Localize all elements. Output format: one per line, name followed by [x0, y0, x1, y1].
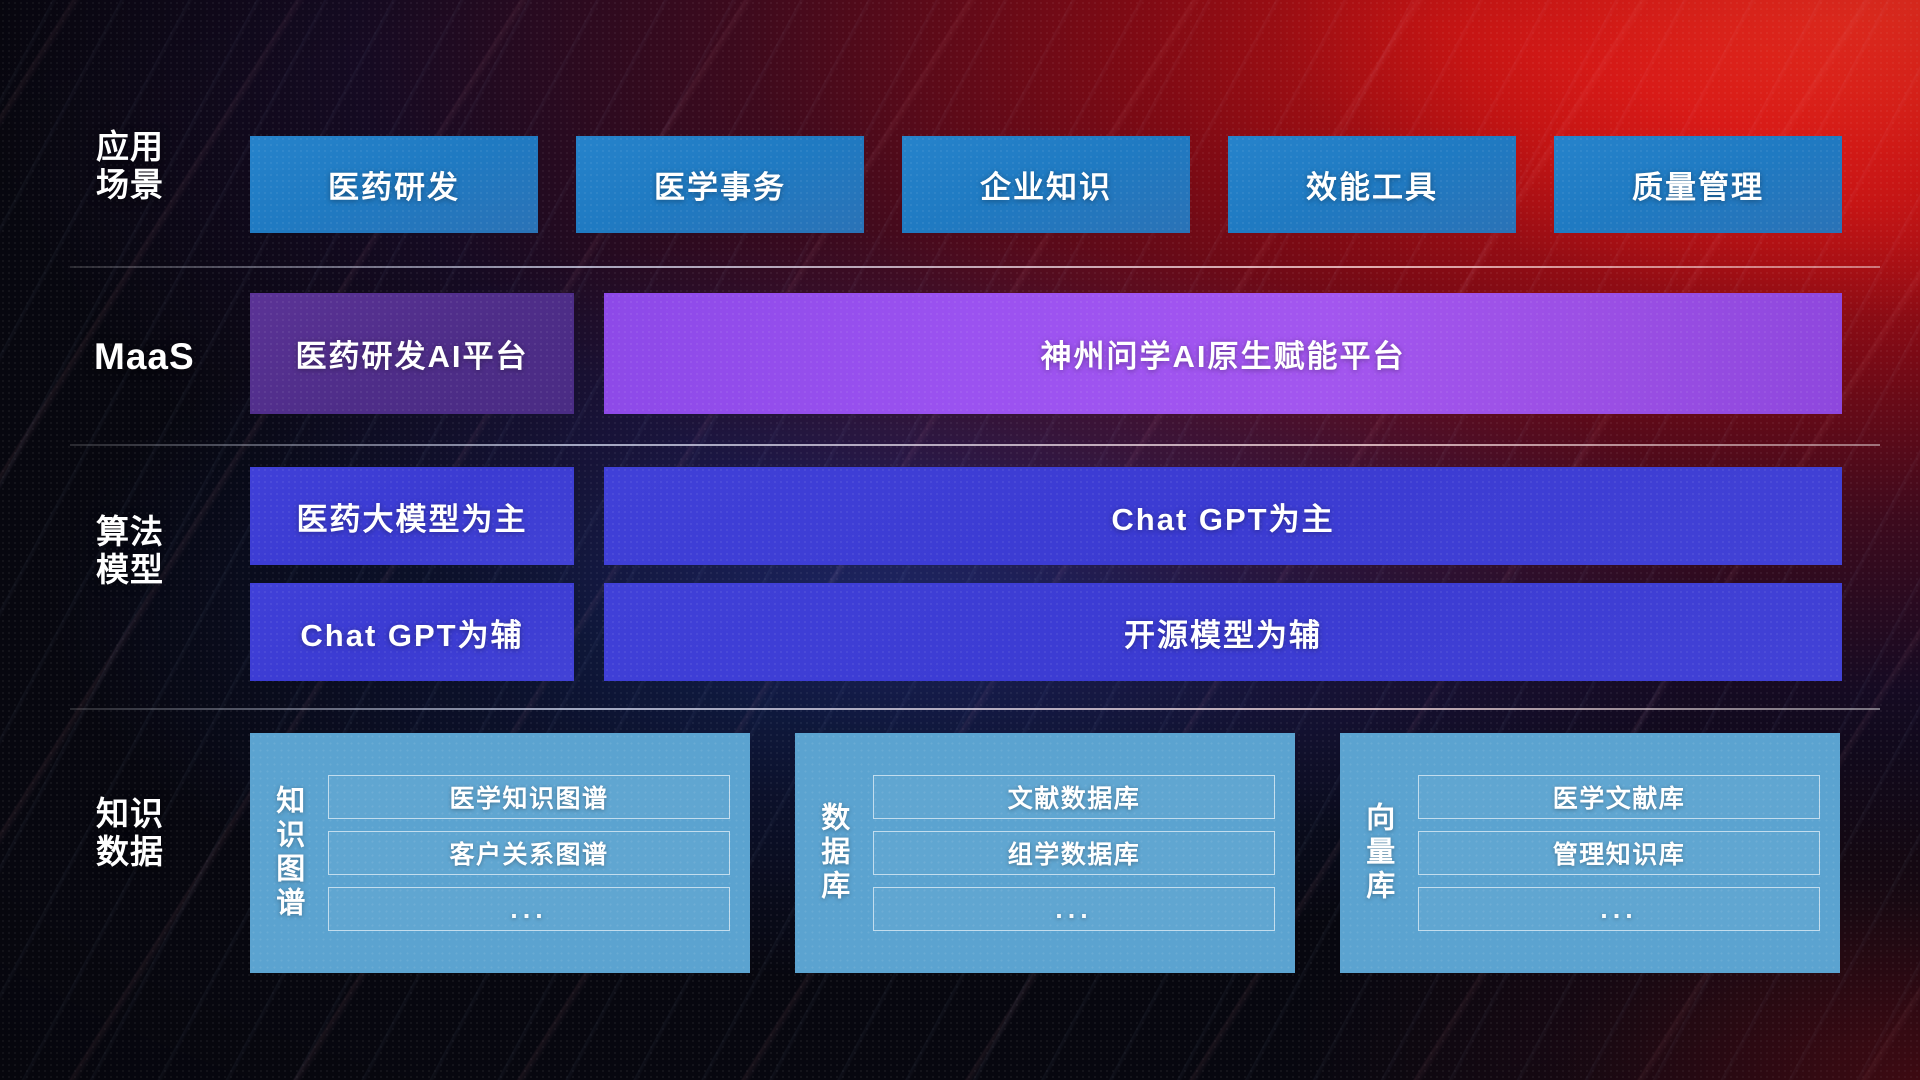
row-label-application-scenarios: 应用 场景: [96, 128, 246, 205]
algo-box-chatgpt-primary[interactable]: Chat GPT为主: [604, 467, 1842, 565]
divider-after-application-scenarios: [70, 266, 1880, 268]
app-box-label: 效能工具: [1306, 162, 1438, 207]
knowledge-panel-title: 向量库: [1340, 733, 1414, 973]
knowledge-item-more[interactable]: ...: [873, 887, 1275, 931]
app-box-label: 医学事务: [654, 162, 786, 207]
maas-box-shenzhou-wenxue-platform[interactable]: 神州问学AI原生赋能平台: [604, 293, 1842, 414]
app-box-label: 企业知识: [980, 162, 1112, 207]
knowledge-panel-database[interactable]: 数据库 文献数据库 组学数据库 ...: [795, 733, 1295, 973]
app-box-medical-affairs[interactable]: 医学事务: [576, 136, 864, 233]
divider-after-maas: [70, 444, 1880, 446]
row-label-knowledge-data: 知识 数据: [96, 795, 246, 872]
knowledge-item[interactable]: 文献数据库: [873, 775, 1275, 819]
diagram-canvas: 应用 场景 医药研发 医学事务 企业知识 效能工具 质量管理 MaaS 医药研发…: [0, 0, 1920, 1080]
knowledge-item[interactable]: 管理知识库: [1418, 831, 1820, 875]
knowledge-panel-knowledge-graph[interactable]: 知识图谱 医学知识图谱 客户关系图谱 ...: [250, 733, 750, 973]
algo-box-chatgpt-secondary[interactable]: Chat GPT为辅: [250, 583, 574, 681]
diagram-content: 应用 场景 医药研发 医学事务 企业知识 效能工具 质量管理 MaaS 医药研发…: [0, 0, 1920, 1080]
knowledge-item[interactable]: 组学数据库: [873, 831, 1275, 875]
algo-box-label: 医药大模型为主: [297, 494, 528, 539]
algo-box-pharma-large-model-primary[interactable]: 医药大模型为主: [250, 467, 574, 565]
knowledge-item-more[interactable]: ...: [328, 887, 730, 931]
algo-box-label: 开源模型为辅: [1124, 610, 1322, 655]
knowledge-panel-vector-store[interactable]: 向量库 医学文献库 管理知识库 ...: [1340, 733, 1840, 973]
knowledge-panel-items: 医学知识图谱 客户关系图谱 ...: [324, 733, 750, 973]
maas-box-label: 神州问学AI原生赋能平台: [1041, 331, 1406, 376]
knowledge-panel-items: 医学文献库 管理知识库 ...: [1414, 733, 1840, 973]
app-box-label: 医药研发: [328, 162, 460, 207]
app-box-drug-rd[interactable]: 医药研发: [250, 136, 538, 233]
maas-box-drug-rd-ai-platform[interactable]: 医药研发AI平台: [250, 293, 574, 414]
knowledge-item[interactable]: 医学文献库: [1418, 775, 1820, 819]
knowledge-item-more[interactable]: ...: [1418, 887, 1820, 931]
knowledge-item[interactable]: 客户关系图谱: [328, 831, 730, 875]
app-box-label: 质量管理: [1632, 162, 1764, 207]
row-label-maas: MaaS: [94, 336, 274, 379]
row-label-algorithm-model: 算法 模型: [96, 513, 246, 590]
app-box-efficiency-tools[interactable]: 效能工具: [1228, 136, 1516, 233]
app-box-quality-management[interactable]: 质量管理: [1554, 136, 1842, 233]
divider-after-algorithm-model: [70, 708, 1880, 710]
knowledge-panel-title: 知识图谱: [250, 733, 324, 973]
knowledge-panel-items: 文献数据库 组学数据库 ...: [869, 733, 1295, 973]
algo-box-opensource-model-secondary[interactable]: 开源模型为辅: [604, 583, 1842, 681]
knowledge-panel-title: 数据库: [795, 733, 869, 973]
app-box-enterprise-knowledge[interactable]: 企业知识: [902, 136, 1190, 233]
knowledge-item[interactable]: 医学知识图谱: [328, 775, 730, 819]
algo-box-label: Chat GPT为辅: [300, 610, 523, 655]
maas-box-label: 医药研发AI平台: [296, 331, 529, 376]
algo-box-label: Chat GPT为主: [1111, 494, 1334, 539]
